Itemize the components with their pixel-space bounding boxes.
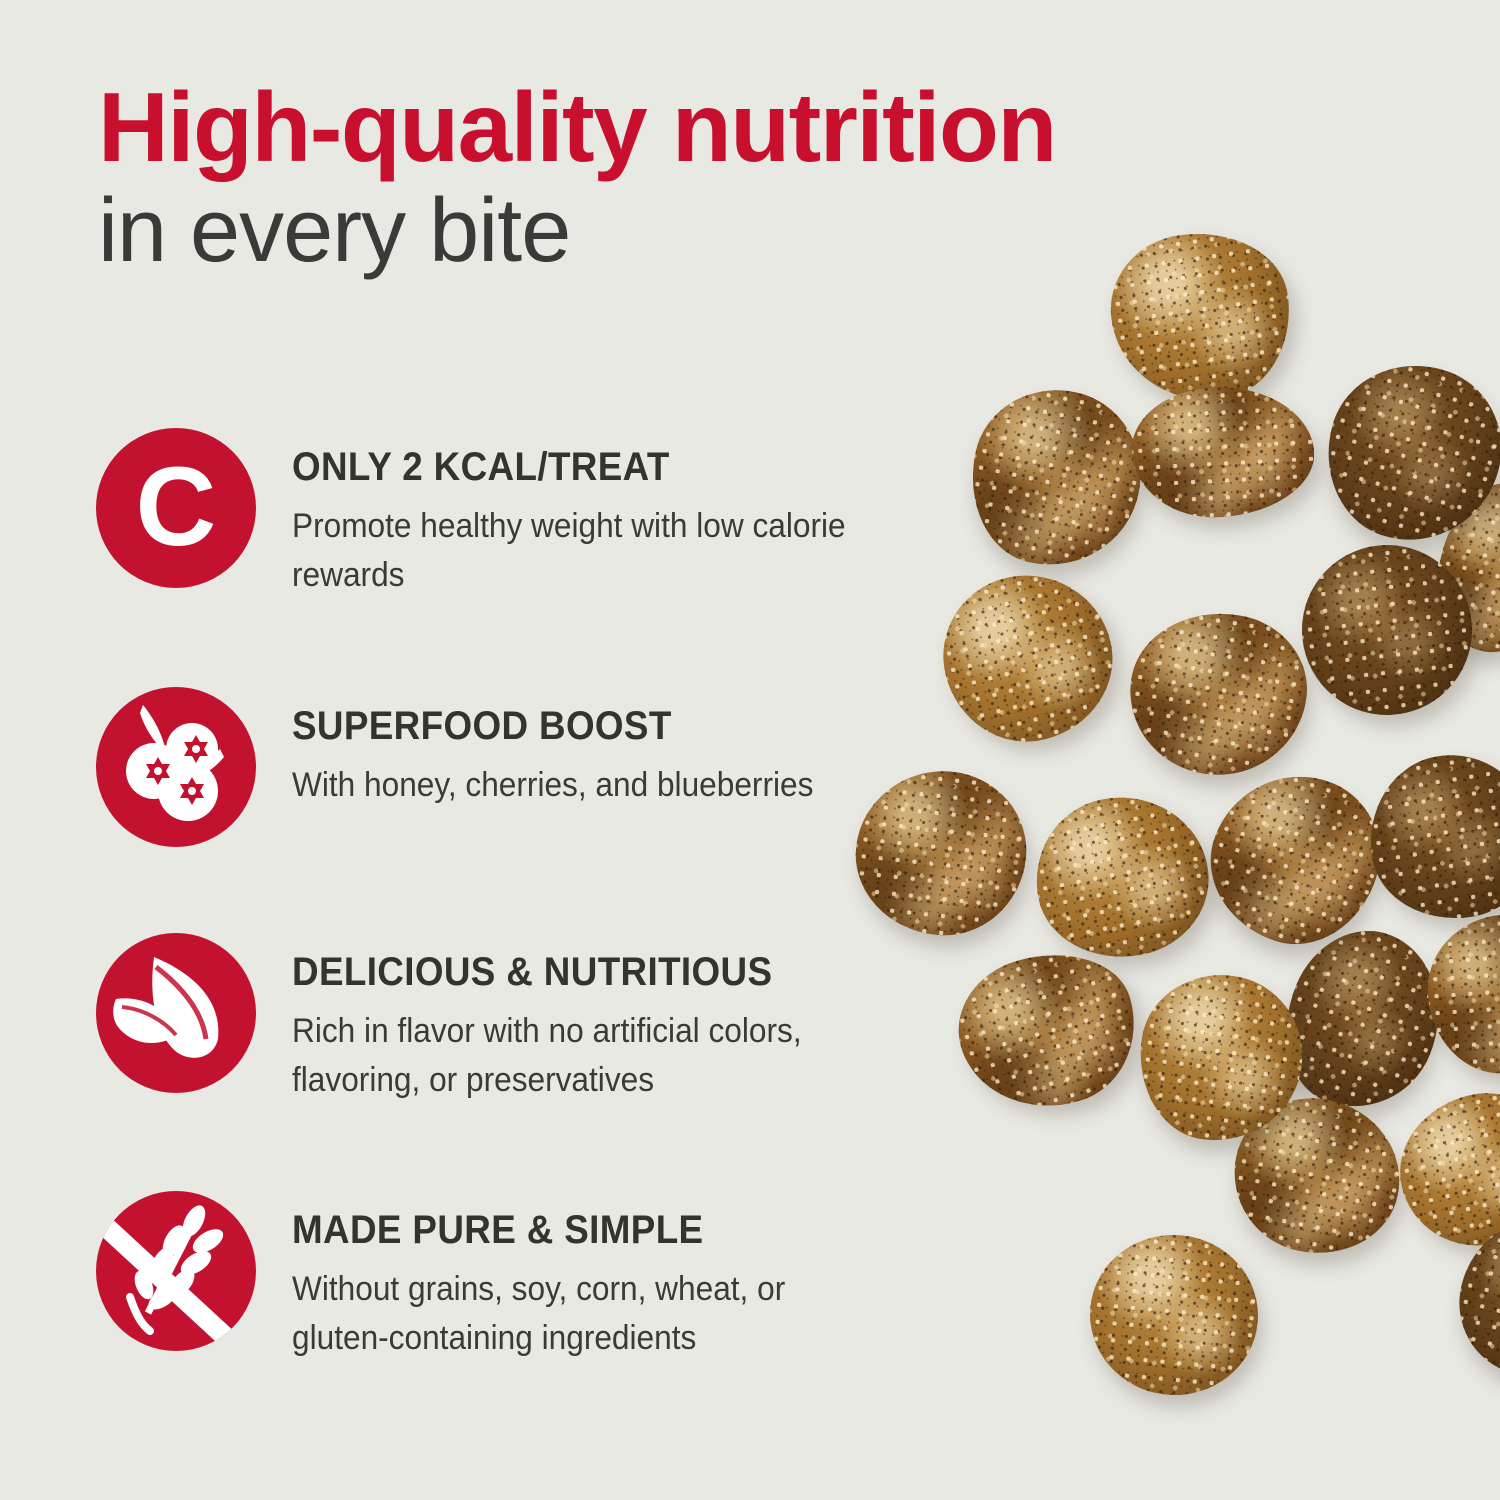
feature-item-calories: C ONLY 2 KCAL/TREAT Promote healthy weig… bbox=[96, 428, 996, 601]
feature-title: ONLY 2 KCAL/TREAT bbox=[292, 446, 940, 488]
svg-text:C: C bbox=[136, 444, 217, 569]
feature-list: C ONLY 2 KCAL/TREAT Promote healthy weig… bbox=[96, 428, 996, 1364]
kibble-piece bbox=[1022, 782, 1221, 972]
headline-primary: High-quality nutrition bbox=[98, 78, 1418, 178]
kibble-piece bbox=[1358, 743, 1500, 931]
feature-title: DELICIOUS & NUTRITIOUS bbox=[292, 951, 940, 993]
feature-description: Rich in flavor with no artificial colors… bbox=[292, 1007, 947, 1106]
feature-item-pure-simple: MADE PURE & SIMPLE Without grains, soy, … bbox=[96, 1191, 996, 1364]
kibble-piece bbox=[1385, 1079, 1500, 1261]
feature-item-superfood: SUPERFOOD BOOST With honey, cherries, an… bbox=[96, 687, 996, 847]
feature-desc-line-1: With honey, cherries, and blueberries bbox=[292, 766, 813, 804]
feature-description: Without grains, soy, corn, wheat, or glu… bbox=[292, 1265, 947, 1364]
kibble-piece bbox=[1118, 600, 1317, 788]
no-grain-wheat-icon bbox=[96, 1191, 256, 1351]
feature-text: DELICIOUS & NUTRITIOUS Rich in flavor wi… bbox=[292, 933, 996, 1106]
feature-description: Promote healthy weight with low calorie … bbox=[292, 502, 947, 601]
feature-desc-line-1: Without grains, soy, corn, wheat, or bbox=[292, 1270, 785, 1308]
calorie-c-icon: C bbox=[96, 428, 256, 588]
feature-desc-line-1: Rich in flavor with no artificial colors… bbox=[292, 1012, 802, 1050]
feature-item-nutritious: DELICIOUS & NUTRITIOUS Rich in flavor wi… bbox=[96, 933, 996, 1106]
leaves-icon bbox=[96, 933, 256, 1093]
feature-title: SUPERFOOD BOOST bbox=[292, 705, 940, 747]
feature-text: ONLY 2 KCAL/TREAT Promote healthy weight… bbox=[292, 428, 996, 601]
kibble-piece bbox=[1129, 382, 1318, 521]
feature-desc-line-2: gluten-containing ingredients bbox=[292, 1314, 947, 1363]
feature-desc-line-2: flavoring, or preservatives bbox=[292, 1056, 947, 1105]
feature-title: MADE PURE & SIMPLE bbox=[292, 1209, 940, 1251]
feature-desc-line-1: Promote healthy weight with low calorie … bbox=[292, 507, 846, 594]
product-feature-graphic: High-quality nutrition in every bite C O… bbox=[0, 0, 1500, 1500]
feature-description: With honey, cherries, and blueberries bbox=[292, 761, 947, 810]
berries-icon bbox=[96, 687, 256, 847]
kibble-piece bbox=[1083, 1228, 1264, 1402]
feature-text: MADE PURE & SIMPLE Without grains, soy, … bbox=[292, 1191, 996, 1364]
kibble-piece bbox=[1423, 910, 1500, 1078]
